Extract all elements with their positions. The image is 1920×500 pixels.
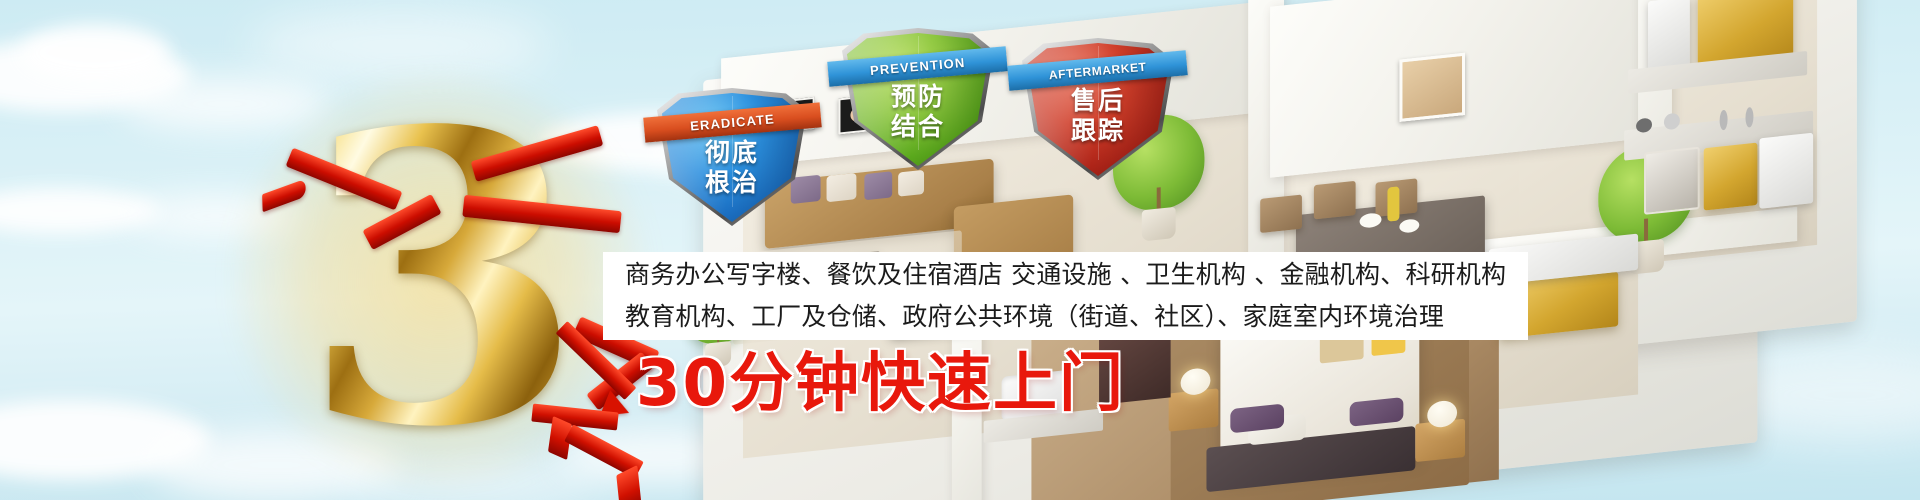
service-scope-line-2: 教育机构、工厂及仓储、政府公共环境（街道、社区）、家庭室内环境治理 [625, 296, 1514, 338]
badge-cn-line1-aftermarket: 售后 [1022, 88, 1174, 115]
badge-cn-line2-eradicate: 根治 [657, 170, 807, 197]
badge-cn-line2-prevention: 结合 [842, 114, 994, 141]
badge-aftermarket: AFTERMARKET 售后 跟踪 [1022, 38, 1174, 180]
badge-cn-line2-aftermarket: 跟踪 [1022, 118, 1174, 145]
promo-banner: 3 ERADICATE 彻底 根治 [0, 0, 1920, 500]
badge-cn-line1-eradicate: 彻底 [657, 140, 807, 167]
badge-prevention: PREVENTION 预防 结合 [842, 28, 994, 170]
service-scope-line-1: 商务办公写字楼、餐饮及住宿酒店 交通设施 、卫生机构 、金融机构、科研机构 [625, 254, 1514, 296]
service-scope-panel: 商务办公写字楼、餐饮及住宿酒店 交通设施 、卫生机构 、金融机构、科研机构 教育… [603, 252, 1528, 340]
badge-eradicate: ERADICATE 彻底 根治 [657, 88, 807, 226]
headline-text: 30分钟快速上门 [636, 352, 1125, 416]
badge-cn-line1-prevention: 预防 [842, 84, 994, 111]
